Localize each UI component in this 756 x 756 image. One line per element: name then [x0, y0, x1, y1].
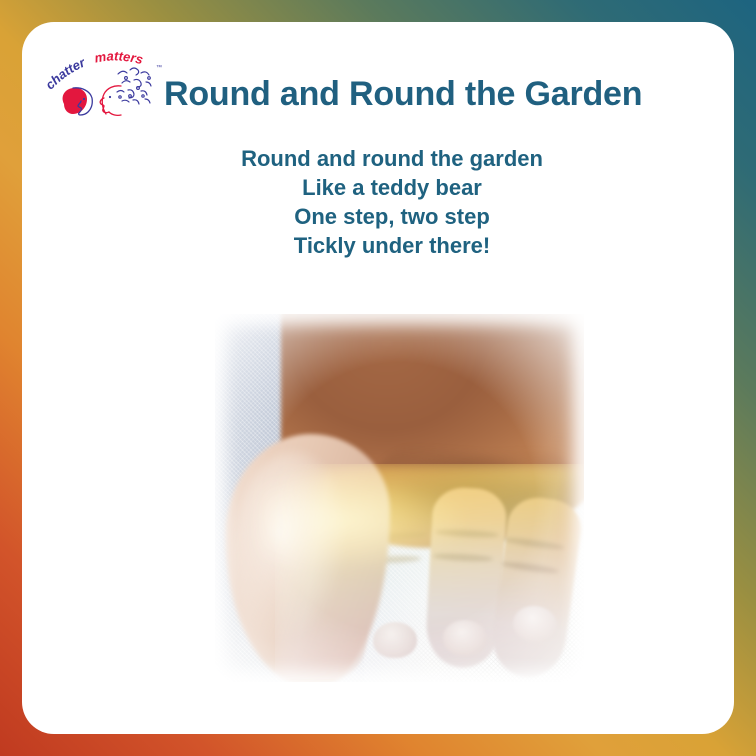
svg-text:matters: matters [93, 52, 144, 67]
verse-line-4: Tickly under there! [102, 231, 682, 260]
page-frame: chatter matters ™ [0, 0, 756, 756]
hand-holding-baby-hand-photo [215, 314, 584, 682]
photo-container [193, 292, 605, 704]
svg-text:™: ™ [156, 64, 162, 71]
verse-line-3: One step, two step [102, 202, 682, 231]
rhyme-card: chatter matters ™ [22, 22, 734, 734]
page-title: Round and Round the Garden [164, 72, 704, 116]
svg-text:chatter: chatter [46, 54, 88, 92]
chatter-matters-logo: chatter matters ™ [46, 52, 168, 124]
rhyme-verse: Round and round the garden Like a teddy … [102, 144, 682, 260]
verse-line-2: Like a teddy bear [102, 173, 682, 202]
verse-line-1: Round and round the garden [102, 144, 682, 173]
photo-soft-edge [215, 314, 584, 682]
